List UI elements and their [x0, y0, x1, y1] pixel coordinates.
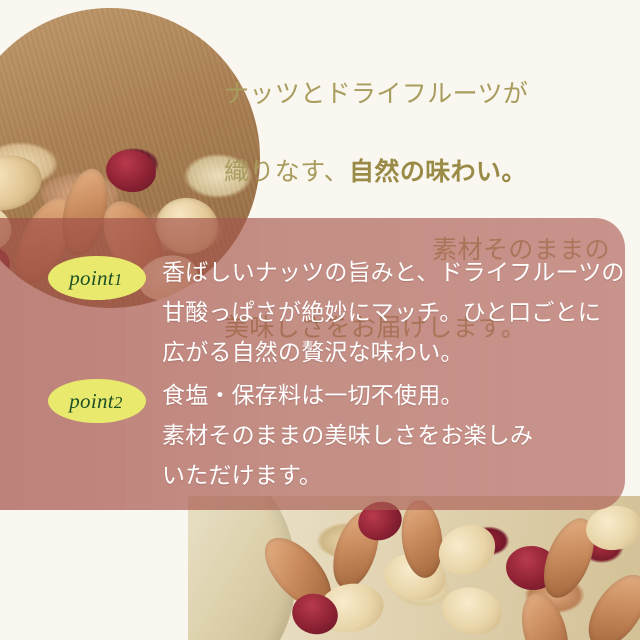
- point1-badge-word: point: [69, 266, 114, 290]
- point1-text: 香ばしいナッツの旨みと、ドライフルーツの 甘酸っぱさが絶妙にマッチ。ひと口ごとに…: [162, 252, 625, 372]
- point2-badge-label: point2: [69, 389, 124, 414]
- headline-line-1: ナッツとドライフルーツが: [220, 75, 610, 114]
- point2-text: 食塩・保存料は一切不使用。 素材そのままの美味しさをお楽しみ いただけます。: [162, 375, 533, 495]
- headline-line-2: 織りなす、自然の味わい。: [220, 153, 610, 192]
- point-row-1: point1 香ばしいナッツの旨みと、ドライフルーツの 甘酸っぱさが絶妙にマッチ…: [48, 252, 625, 372]
- cashew-piece: [437, 581, 506, 640]
- promo-banner: ナッツとドライフルーツが 織りなす、自然の味わい。 素材そのままの 美味しさをお…: [0, 0, 640, 640]
- almond-piece: [577, 565, 640, 640]
- point-row-2: point2 食塩・保存料は一切不使用。 素材そのままの美味しさをお楽しみ いた…: [48, 375, 533, 495]
- point2-badge-word: point: [69, 389, 114, 413]
- point2-badge-number: 2: [114, 393, 123, 412]
- bottom-nut-cluster: [188, 496, 640, 640]
- points-overlay-panel: point1 香ばしいナッツの旨みと、ドライフルーツの 甘酸っぱさが絶妙にマッチ…: [0, 218, 625, 510]
- point1-badge-label: point1: [69, 266, 124, 291]
- cranberry-piece: [103, 146, 160, 196]
- point2-badge: point2: [48, 379, 146, 423]
- point1-badge: point1: [48, 256, 146, 300]
- bottom-food-photo: [188, 496, 640, 640]
- headline-line-2-prefix: 織りなす、: [224, 158, 349, 186]
- point1-badge-number: 1: [114, 270, 123, 289]
- headline-emphasis: 自然の味わい。: [349, 158, 527, 186]
- almond-piece: [514, 588, 576, 640]
